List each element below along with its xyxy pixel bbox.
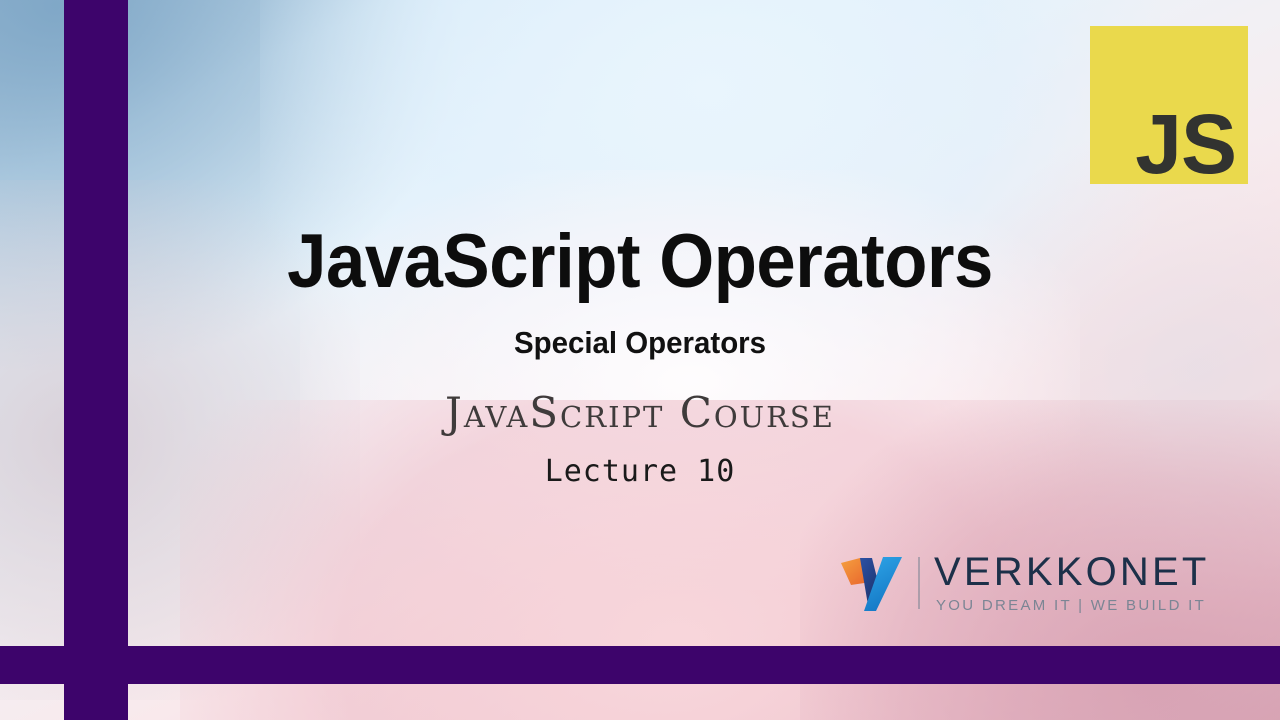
logo-divider xyxy=(918,557,920,609)
accent-bar-vertical xyxy=(64,0,128,720)
lecture-number: Lecture 10 xyxy=(0,457,1280,487)
brand-logo: VERKKONET YOU DREAM IT | WE BUILD IT xyxy=(838,546,1252,620)
slide-title: JavaScript Operators xyxy=(45,224,1235,300)
slide-subtitle: Special Operators xyxy=(32,327,1248,358)
javascript-logo-label: JS xyxy=(1135,102,1236,186)
brand-tagline: YOU DREAM IT | WE BUILD IT xyxy=(936,598,1210,615)
presentation-slide: JS JavaScript Operators Special Operator… xyxy=(0,0,1280,720)
accent-bar-horizontal xyxy=(0,646,1280,684)
javascript-logo-icon: JS xyxy=(1090,26,1248,184)
logo-wordmark: VERKKONET YOU DREAM IT | WE BUILD IT xyxy=(934,552,1210,614)
brand-name: VERKKONET xyxy=(934,552,1210,593)
course-name: JavaScript Course xyxy=(0,392,1280,434)
verkkonet-mark-icon xyxy=(838,549,906,617)
